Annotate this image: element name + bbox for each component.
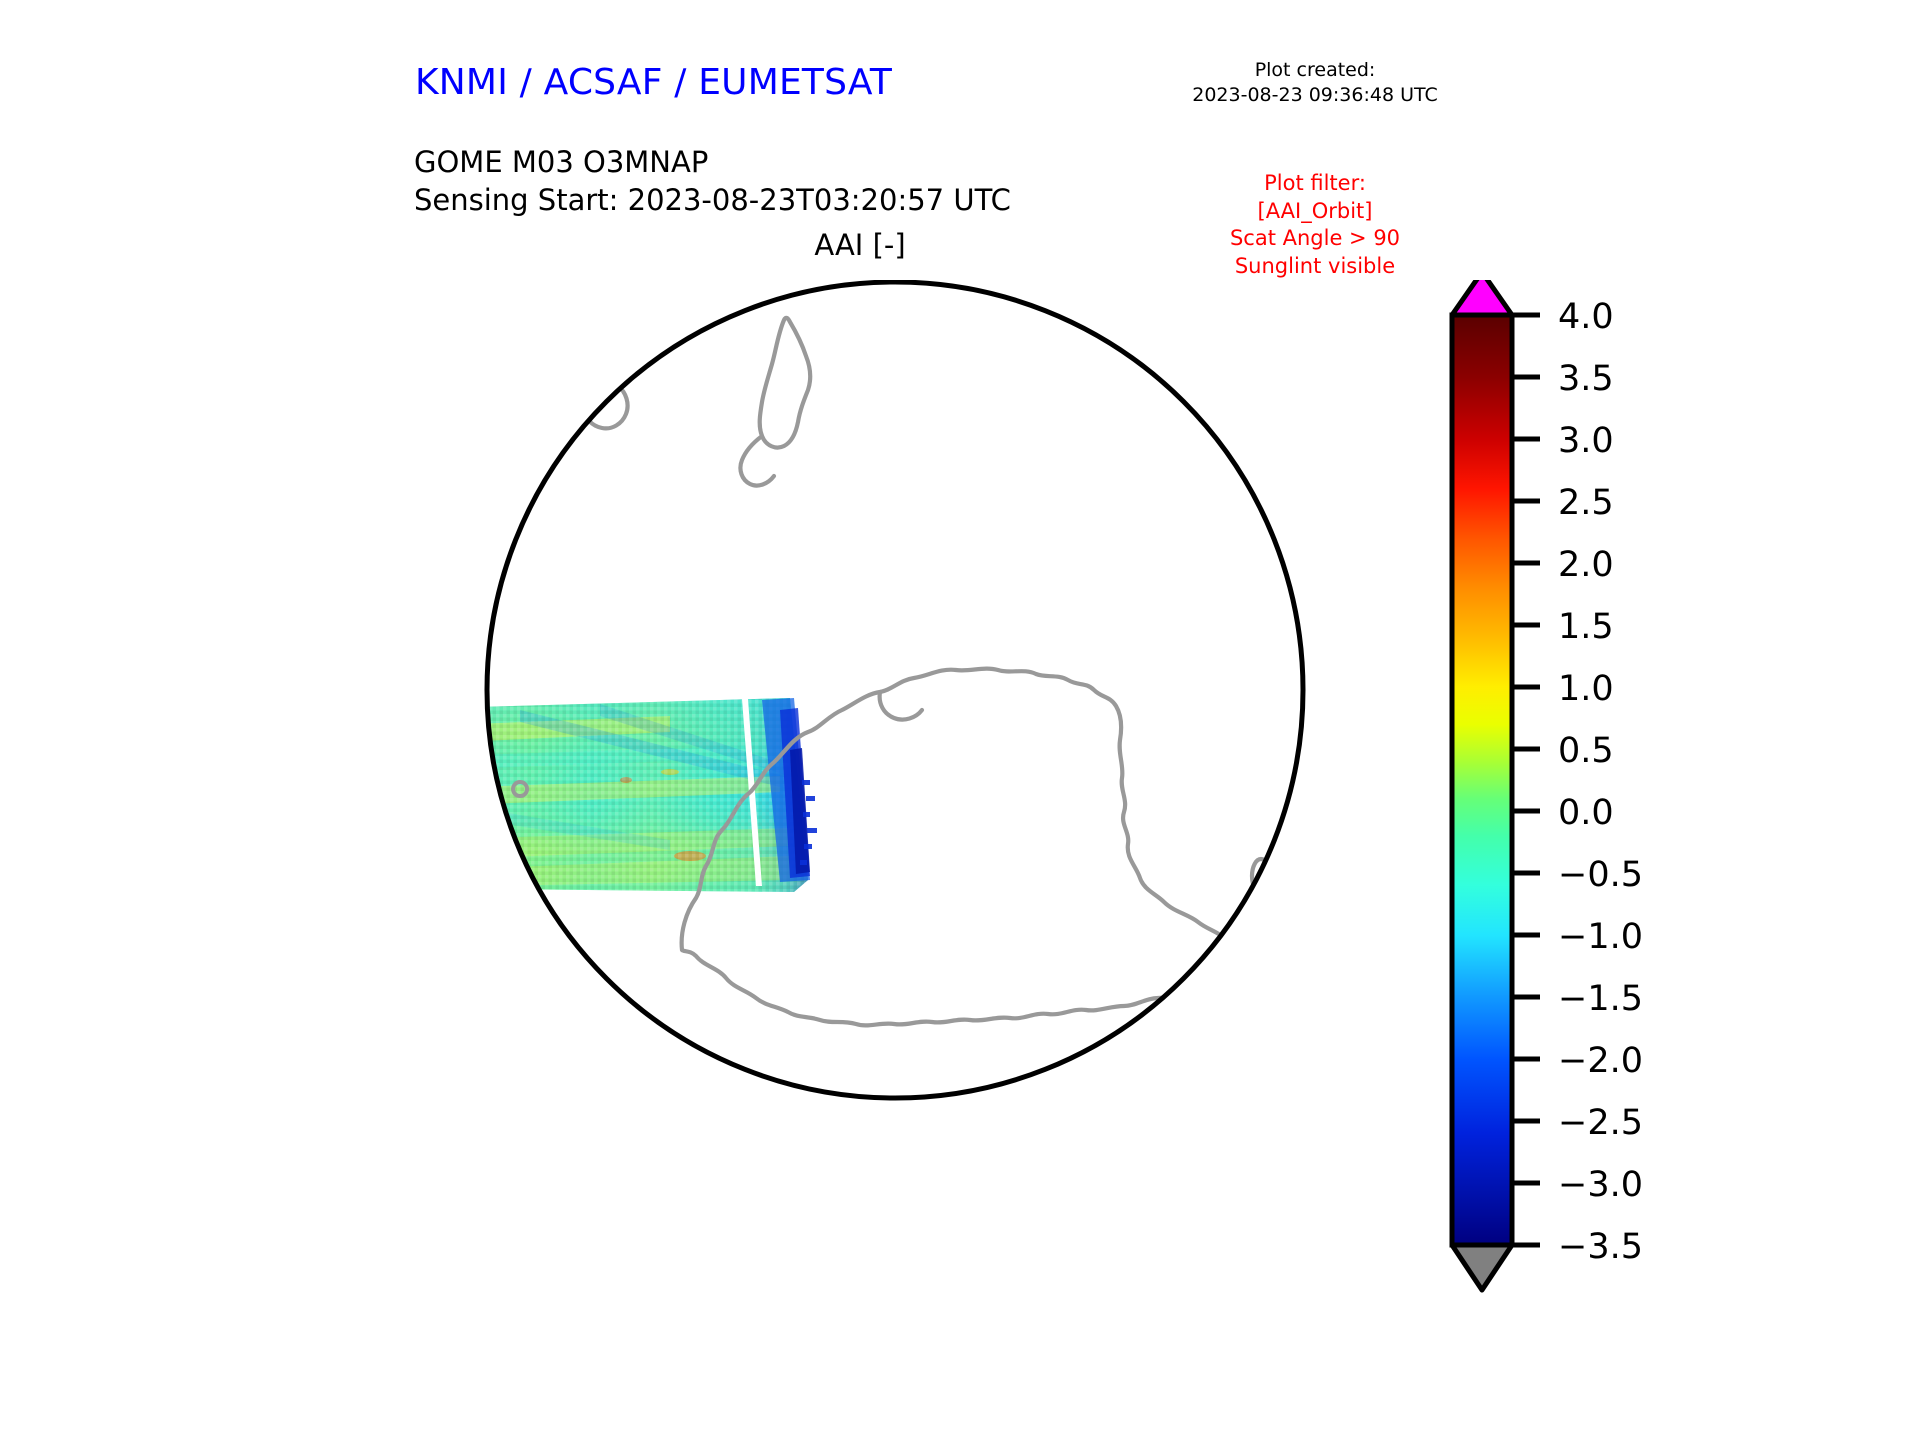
colorbar-tick-label: −2.5 <box>1558 1103 1643 1143</box>
colorbar-tick-label: −1.0 <box>1558 917 1643 957</box>
colorbar-tick-label: 3.5 <box>1558 359 1614 399</box>
colorbar-tick-label: −3.5 <box>1558 1227 1643 1267</box>
product-name: GOME M03 O3MNAP <box>414 144 1011 182</box>
colorbar-tick-label: −0.5 <box>1558 855 1643 895</box>
organisation-title: KNMI / ACSAF / EUMETSAT <box>415 62 892 103</box>
product-info-block: GOME M03 O3MNAP Sensing Start: 2023-08-2… <box>414 144 1011 219</box>
colorbar-tick-label: 2.5 <box>1558 483 1614 523</box>
plot-filter-name: [AAI_Orbit] <box>1150 198 1480 226</box>
colorbar-tick-label: 0.5 <box>1558 731 1614 771</box>
plot-filter-block: Plot filter: [AAI_Orbit] Scat Angle > 90… <box>1150 170 1480 281</box>
colorbar-under-arrow <box>1452 1245 1512 1290</box>
colorbar-tick-label: −1.5 <box>1558 979 1643 1019</box>
plot-filter-sunglint: Sunglint visible <box>1150 253 1480 281</box>
colorbar-ticks: 4.03.53.02.52.01.51.00.50.0−0.5−1.0−1.5−… <box>1512 297 1643 1267</box>
map-panel <box>380 280 1410 1320</box>
colorbar-tick-label: 1.5 <box>1558 607 1614 647</box>
plot-title: AAI [-] <box>620 228 1100 262</box>
plot-filter-scat-angle: Scat Angle > 90 <box>1150 225 1480 253</box>
polar-map <box>380 280 1410 1320</box>
plot-created-block: Plot created: 2023-08-23 09:36:48 UTC <box>1150 58 1480 108</box>
colorbar-tick-label: 1.0 <box>1558 669 1614 709</box>
colorbar-tick-label: −2.0 <box>1558 1041 1643 1081</box>
sensing-start: Sensing Start: 2023-08-23T03:20:57 UTC <box>414 182 1011 220</box>
plot-page: KNMI / ACSAF / EUMETSAT Plot created: 20… <box>0 0 1920 1440</box>
colorbar-tick-label: 3.0 <box>1558 421 1614 461</box>
plot-filter-label: Plot filter: <box>1150 170 1480 198</box>
colorbar-tick-label: 4.0 <box>1558 297 1614 337</box>
colorbar-gradient <box>1452 315 1512 1245</box>
plot-created-value: 2023-08-23 09:36:48 UTC <box>1150 83 1480 108</box>
colorbar-tick-label: 2.0 <box>1558 545 1614 585</box>
plot-created-label: Plot created: <box>1150 58 1480 83</box>
colorbar: 4.03.53.02.52.01.51.00.50.0−0.5−1.0−1.5−… <box>1432 280 1852 1330</box>
colorbar-panel: 4.03.53.02.52.01.51.00.50.0−0.5−1.0−1.5−… <box>1432 280 1852 1330</box>
colorbar-tick-label: −3.0 <box>1558 1165 1643 1205</box>
colorbar-over-arrow <box>1452 280 1512 315</box>
colorbar-tick-label: 0.0 <box>1558 793 1614 833</box>
